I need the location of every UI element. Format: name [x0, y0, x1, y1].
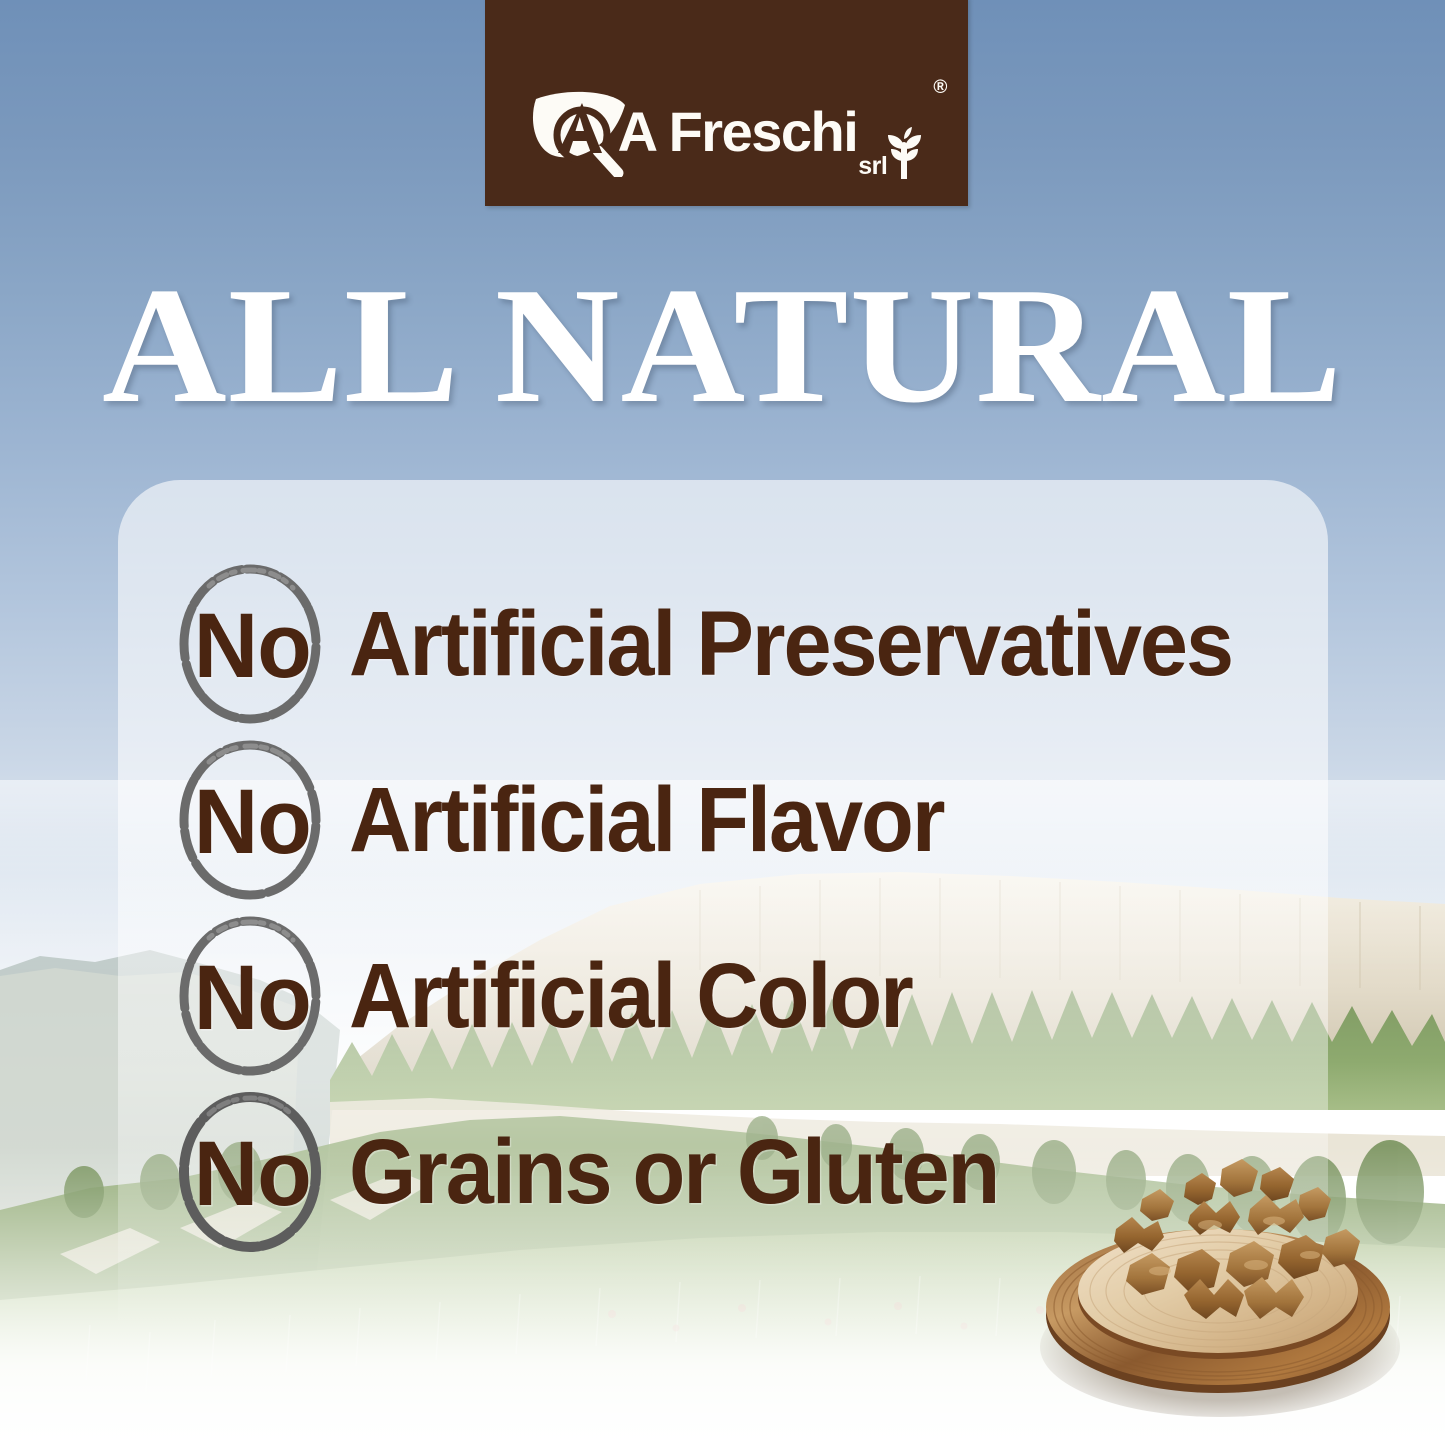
no-badge: No: [175, 912, 325, 1080]
claim-item: No Artificial Flavor: [175, 732, 1375, 908]
product-photo: [1010, 1125, 1430, 1425]
brand-name: A Freschi: [618, 104, 858, 160]
claim-label: Artificial Color: [349, 950, 912, 1042]
no-badge: No: [175, 1088, 325, 1256]
registered-trademark-icon: ®: [933, 77, 947, 99]
claim-label: Artificial Preservatives: [349, 598, 1232, 690]
claim-label: Artificial Flavor: [349, 774, 943, 866]
no-label: No: [193, 952, 310, 1044]
leaf-magnifier-icon: [528, 81, 632, 182]
claim-item: No Artificial Color: [175, 908, 1375, 1084]
sprout-icon: [885, 127, 925, 184]
brand-logo-bar: A Freschi srl ®: [485, 0, 968, 206]
page-title: ALL NATURAL: [0, 262, 1445, 428]
no-badge: No: [175, 560, 325, 728]
no-label: No: [193, 1128, 310, 1220]
claim-label: Grains or Gluten: [349, 1126, 998, 1218]
wooden-plate-with-treats-illustration: [1010, 1125, 1430, 1425]
no-badge: No: [175, 736, 325, 904]
claim-item: No Artificial Preservatives: [175, 556, 1375, 732]
no-label: No: [193, 600, 310, 692]
no-label: No: [193, 776, 310, 868]
brand-suffix: srl: [858, 154, 887, 179]
poster-root: A Freschi srl ® ALL NATURAL: [0, 0, 1445, 1445]
